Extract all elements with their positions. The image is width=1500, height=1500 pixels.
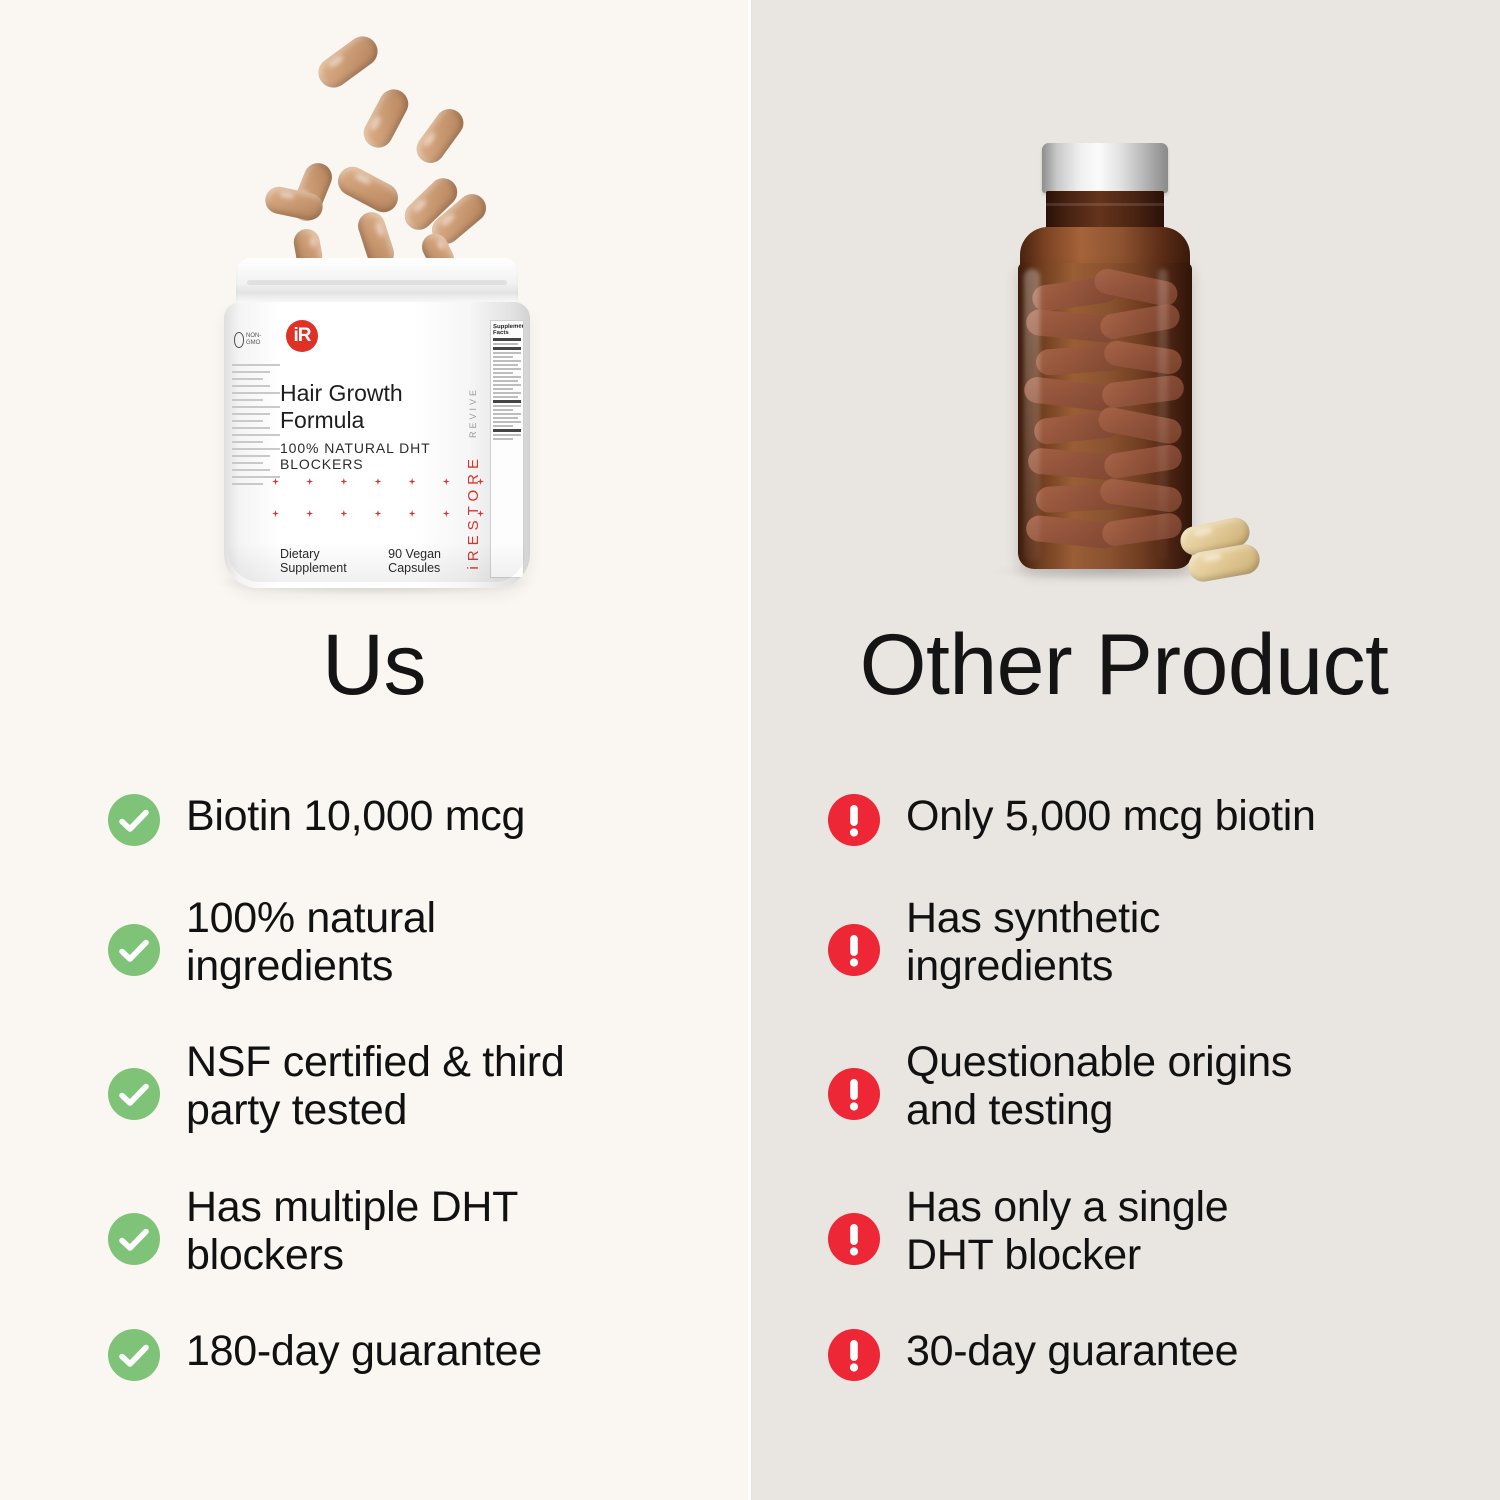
non-gmo-icon (234, 332, 244, 348)
list-item: Biotin 10,000 mcg (108, 790, 708, 846)
check-circle-icon (108, 1213, 160, 1265)
column-heading-us: Us (0, 622, 748, 708)
check-circle-icon (108, 924, 160, 976)
alert-circle-icon (828, 924, 880, 976)
column-divider (748, 0, 751, 1500)
non-gmo-line1: NON- (246, 333, 261, 339)
feature-list-us: Biotin 10,000 mcg 100% natural ingredien… (0, 790, 748, 1381)
supplement-facts-title: Supplement Facts (493, 324, 521, 336)
non-gmo-badge: NON- GMO (234, 332, 280, 352)
feature-list-other: Only 5,000 mcg biotin Has synthetic ingr… (748, 790, 1500, 1381)
label-fine-print (232, 364, 280, 490)
list-item: 30-day guarantee (828, 1325, 1460, 1381)
list-item-label: Has multiple DHT blockers (186, 1181, 518, 1279)
check-circle-icon (108, 1068, 160, 1120)
list-item-label: Only 5,000 mcg biotin (906, 790, 1316, 840)
brand-line-vertical: REVIVE (468, 387, 478, 438)
other-product-bottle (1006, 143, 1202, 575)
comparison-board: NON- GMO iR Hair Growth Formula 100% NAT… (0, 0, 1500, 1500)
bottle-cap (1042, 143, 1168, 193)
list-item: NSF certified & third party tested (108, 1036, 708, 1134)
list-item-label: Biotin 10,000 mcg (186, 790, 525, 840)
alert-circle-icon (828, 1068, 880, 1120)
non-gmo-line2: GMO (246, 340, 260, 346)
alert-circle-icon (828, 794, 880, 846)
list-item: Has only a single DHT blocker (828, 1181, 1460, 1279)
list-item-label: Questionable origins and testing (906, 1036, 1292, 1134)
panel-us: NON- GMO iR Hair Growth Formula 100% NAT… (0, 0, 748, 1500)
supplement-facts-panel: Supplement Facts (490, 320, 524, 578)
bottle-highlight (1024, 269, 1040, 561)
list-item-label: 100% natural ingredients (186, 892, 436, 990)
check-circle-icon (108, 1329, 160, 1381)
irestore-logo-icon: iR (286, 320, 318, 352)
list-item: Questionable origins and testing (828, 1036, 1460, 1134)
list-item: Has synthetic ingredients (828, 892, 1460, 990)
list-item-label: NSF certified & third party tested (186, 1036, 564, 1134)
list-item-label: 30-day guarantee (906, 1325, 1238, 1375)
column-heading-other: Other Product (748, 622, 1500, 708)
jar-body: NON- GMO iR Hair Growth Formula 100% NAT… (224, 302, 530, 588)
capsule (359, 84, 414, 152)
list-item-label: Has only a single DHT blocker (906, 1181, 1228, 1279)
list-item: 180-day guarantee (108, 1325, 708, 1381)
jar-base (228, 542, 526, 582)
list-item: Has multiple DHT blockers (108, 1181, 708, 1279)
vertical-brand-block: iRESTORE REVIVE (460, 324, 486, 570)
product-jar-us: NON- GMO iR Hair Growth Formula 100% NAT… (224, 258, 530, 588)
alert-circle-icon (828, 1213, 880, 1265)
capsule (411, 104, 469, 169)
list-item-label: Has synthetic ingredients (906, 892, 1160, 990)
label-dot-pattern (272, 478, 484, 542)
capsule (333, 162, 403, 218)
alert-circle-icon (828, 1329, 880, 1381)
panel-other-product: Other Product Only 5,000 mcg biotin Has … (748, 0, 1500, 1500)
list-item: Only 5,000 mcg biotin (828, 790, 1460, 846)
list-item-label: 180-day guarantee (186, 1325, 542, 1375)
product-title: Hair Growth Formula (280, 380, 480, 434)
capsule (312, 30, 383, 93)
check-circle-icon (108, 794, 160, 846)
bottle-highlight-secondary (1158, 269, 1168, 561)
list-item: 100% natural ingredients (108, 892, 708, 990)
